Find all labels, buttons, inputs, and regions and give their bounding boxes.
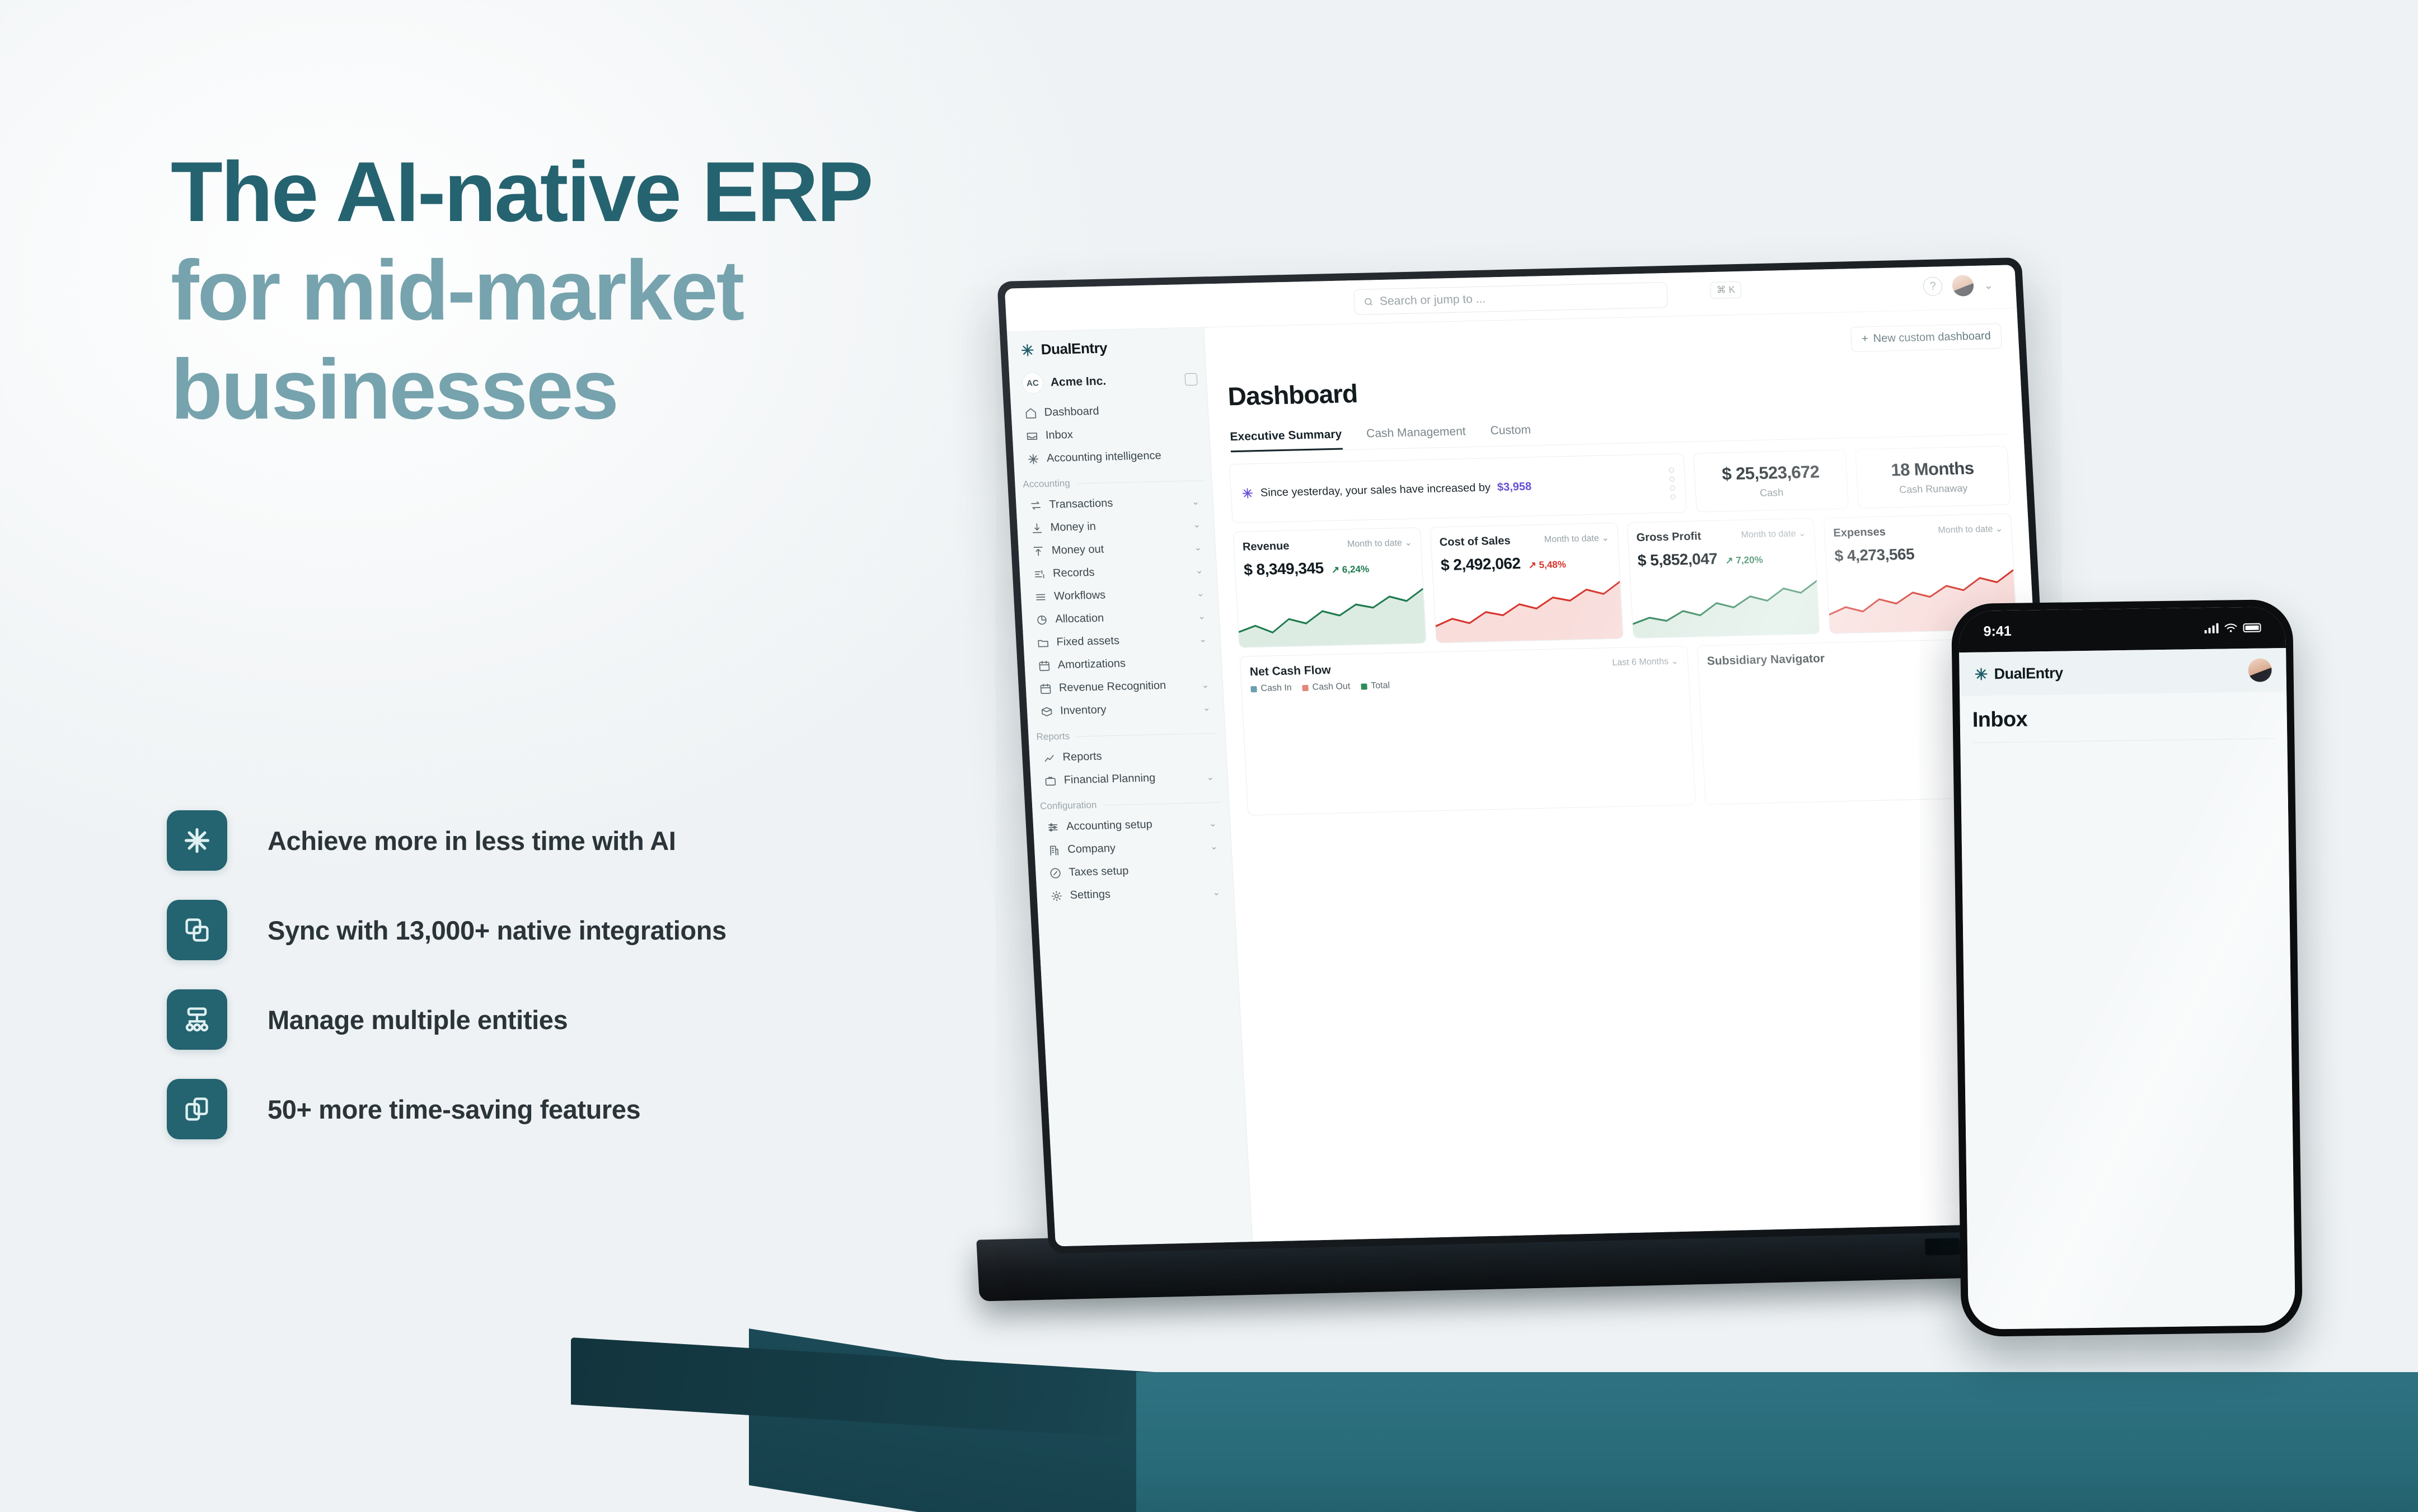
- legend-item-2: Total: [1361, 680, 1390, 691]
- box-icon: [1041, 705, 1053, 717]
- feature-list: Achieve more in less time with AI Sync w…: [167, 810, 922, 1168]
- inbox-title: Inbox: [1972, 704, 2275, 732]
- metric-sparkline: [1236, 575, 1426, 647]
- ai-message-amount: $3,958: [1497, 480, 1531, 494]
- box-icon: [1041, 705, 1053, 717]
- metric-value: $ 4,273,565: [1834, 545, 1915, 565]
- copy-layers-icon: [182, 1095, 212, 1124]
- metric-period-selector[interactable]: Month to date ⌄: [1938, 523, 2003, 536]
- search-placeholder: Search or jump to ...: [1379, 292, 1486, 308]
- upload-icon: [1032, 545, 1044, 557]
- home-icon: [1024, 407, 1037, 419]
- metric-value: $ 2,492,062: [1440, 555, 1521, 574]
- sparkle-icon: [1241, 487, 1254, 499]
- upload-icon: [1032, 545, 1044, 557]
- search-input[interactable]: Search or jump to ...: [1353, 281, 1669, 314]
- org-switcher[interactable]: AC Acme Inc.: [1009, 364, 1207, 402]
- phone-main: Inbox: [1960, 692, 2295, 1330]
- phone-body: 9:41: [1951, 599, 2303, 1337]
- kpi-value: $ 25,523,672: [1700, 462, 1841, 485]
- sidebar-item-label: Taxes setup: [1069, 863, 1219, 879]
- inbox-icon: [1025, 430, 1038, 442]
- feature-icon-tile: [167, 900, 227, 960]
- kpi-label: Cash Runaway: [1863, 482, 2004, 497]
- dualentry-logo-icon: [1020, 342, 1035, 358]
- records-icon: [1033, 567, 1046, 580]
- sidebar-item-label: Reports: [1062, 748, 1213, 764]
- folder-icon: [1037, 636, 1049, 649]
- kpi-card-cash: $ 25,523,672 Cash: [1693, 449, 1849, 512]
- percent-icon: [1049, 867, 1062, 879]
- ai-message-text: Since yesterday, your sales have increas…: [1260, 481, 1491, 500]
- building-icon: [1048, 844, 1061, 856]
- sidebar-item-label: Revenue Recognition: [1058, 679, 1194, 695]
- legend-swatch: [1361, 683, 1367, 689]
- metric-delta: ↗ 5,48%: [1528, 559, 1566, 571]
- sliders-icon: [1047, 821, 1060, 833]
- sidebar-item-label: Amortizations: [1057, 655, 1208, 672]
- chevron-down-icon[interactable]: ⌄: [1206, 771, 1214, 782]
- gear-icon: [1050, 890, 1063, 902]
- chart-line-icon: [1043, 752, 1056, 764]
- phone-screen: 9:41: [1958, 607, 2295, 1330]
- sliders-icon: [1047, 821, 1060, 833]
- org-name: Acme Inc.: [1050, 373, 1178, 389]
- metric-card-1: Cost of Sales Month to date ⌄ $ 2,492,06…: [1430, 523, 1623, 644]
- wifi-icon: [2224, 623, 2237, 633]
- allocation-icon: [1035, 613, 1048, 626]
- sidebar-item-label: Settings: [1070, 886, 1206, 902]
- sidebar-nav-reports: Reports Financial Planning ⌄: [1029, 742, 1227, 792]
- calendar-icon: [1038, 659, 1051, 672]
- legend-swatch: [1302, 684, 1309, 691]
- search-shortcut: ⌘ K: [1710, 281, 1742, 299]
- inbox-list: [1973, 748, 2275, 752]
- laptop-lid: Search or jump to ... ⌘ K ? ⌄ DualEntry: [997, 257, 2073, 1254]
- laptop-screen: Search or jump to ... ⌘ K ? ⌄ DualEntry: [1005, 265, 2065, 1246]
- sparkle-icon: [182, 826, 212, 855]
- feature-item-2: Manage multiple entities: [167, 989, 922, 1050]
- chevron-down-icon[interactable]: ⌄: [1196, 588, 1204, 599]
- transfer-icon: [1029, 499, 1042, 511]
- metric-period-selector[interactable]: Month to date ⌄: [1544, 532, 1609, 545]
- chevron-down-icon[interactable]: ⌄: [1199, 633, 1207, 645]
- metric-value: $ 5,852,047: [1637, 550, 1718, 570]
- search-icon: [1363, 297, 1374, 307]
- card-menu-icon[interactable]: [1669, 467, 1676, 499]
- feature-icon-tile: [167, 989, 227, 1050]
- sidebar-item-label: Workflows: [1054, 587, 1190, 603]
- percent-icon: [1049, 867, 1062, 879]
- chevron-down-icon[interactable]: ⌄: [1984, 278, 1994, 292]
- metric-period-selector[interactable]: Month to date ⌄: [1741, 528, 1806, 541]
- avatar[interactable]: [2248, 658, 2272, 682]
- calendar-icon: [1038, 659, 1051, 672]
- waterfall-plot: [1251, 687, 1686, 809]
- dualentry-logo-icon: [1974, 666, 1988, 681]
- laptop-mockup: Search or jump to ... ⌘ K ? ⌄ DualEntry: [974, 257, 2110, 1305]
- feature-label: Sync with 13,000+ native integrations: [268, 915, 727, 946]
- panel-toggle-icon[interactable]: [1184, 373, 1197, 386]
- sidebar-nav-accounting: Transactions ⌄ Money in ⌄ Money out ⌄ Re…: [1015, 490, 1224, 724]
- chevron-down-icon[interactable]: ⌄: [1198, 611, 1206, 622]
- chevron-down-icon[interactable]: ⌄: [1193, 519, 1201, 530]
- metric-title: Revenue: [1242, 540, 1290, 554]
- sidebar-item-label: Financial Planning: [1063, 771, 1199, 787]
- dashboard-title: Dashboard: [1227, 363, 2004, 412]
- phone-brand-name: DualEntry: [1994, 664, 2063, 683]
- sidebar-item-label: Accounting intelligence: [1047, 449, 1197, 465]
- gear-icon: [1050, 890, 1063, 902]
- sparkle-icon: [1027, 453, 1040, 465]
- summary-row: Since yesterday, your sales have increas…: [1229, 446, 2011, 524]
- feature-label: 50+ more time-saving features: [268, 1094, 640, 1125]
- tab-2[interactable]: Custom: [1490, 424, 1531, 447]
- signal-icon: [2204, 623, 2218, 633]
- sidebar-item-label: Fixed assets: [1056, 633, 1192, 649]
- kpi-value: 18 Months: [1862, 458, 2003, 481]
- chevron-down-icon[interactable]: ⌄: [1208, 818, 1216, 829]
- brand-name: DualEntry: [1041, 339, 1108, 358]
- plus-icon: +: [1861, 332, 1868, 345]
- calendar-icon: [1039, 682, 1052, 694]
- feature-item-3: 50+ more time-saving features: [167, 1079, 922, 1139]
- sparkle-icon: [1027, 453, 1040, 465]
- metric-sparkline: [1433, 570, 1623, 643]
- briefcase-icon: [1044, 774, 1057, 787]
- sidebar-nav-configuration: Accounting setup ⌄ Company ⌄ Taxes setup…: [1033, 811, 1234, 908]
- desk-pedestal: [571, 1337, 2418, 1512]
- metric-card-row: Revenue Month to date ⌄ $ 8,349,345 ↗ 6,…: [1233, 513, 2017, 647]
- phone-app-header: DualEntry: [1959, 648, 2286, 696]
- brand-logo: DualEntry: [1007, 327, 1206, 368]
- metric-title: Cost of Sales: [1439, 534, 1511, 549]
- inbox-tabs: [1972, 738, 2275, 743]
- briefcase-icon: [1044, 774, 1057, 787]
- chevron-down-icon[interactable]: ⌄: [1194, 542, 1202, 553]
- legend-swatch: [1250, 686, 1257, 692]
- chevron-down-icon[interactable]: ⌄: [1201, 679, 1209, 691]
- sidebar-item-label: Inbox: [1045, 426, 1196, 442]
- feature-icon-tile: [167, 810, 227, 871]
- records-icon: [1033, 567, 1046, 580]
- net-cash-flow-chart: Net Cash Flow Last 6 Months ⌄ Cash InCas…: [1239, 646, 1695, 815]
- dynamic-island: [2070, 617, 2175, 647]
- feature-label: Manage multiple entities: [268, 1004, 568, 1035]
- headline-line-1: The AI-native ERP: [171, 143, 1150, 241]
- feature-icon-tile: [167, 1079, 227, 1139]
- home-icon: [1024, 407, 1037, 419]
- metric-title: Gross Profit: [1636, 530, 1702, 544]
- new-custom-dashboard-button[interactable]: + New custom dashboard: [1850, 323, 2002, 352]
- chevron-down-icon[interactable]: ⌄: [1192, 496, 1199, 507]
- status-time: 9:41: [1983, 623, 2011, 640]
- overlapping-squares-icon: [182, 915, 212, 945]
- feature-item-1: Sync with 13,000+ native integrations: [167, 900, 922, 960]
- workflow-icon: [1034, 590, 1047, 603]
- allocation-icon: [1035, 613, 1048, 626]
- chart-title: Net Cash Flow: [1249, 664, 1331, 679]
- hierarchy-icon: [182, 1005, 212, 1034]
- phone-status-bar: 9:41: [1958, 607, 2286, 652]
- sidebar-item-label: Accounting setup: [1066, 817, 1202, 833]
- metric-sparkline: [1630, 566, 1820, 638]
- chevron-down-icon[interactable]: ⌄: [1202, 702, 1210, 713]
- sidebar-item-label: Money in: [1050, 518, 1186, 534]
- sidebar-item-label: Dashboard: [1044, 403, 1194, 419]
- metric-title: Expenses: [1833, 526, 1886, 540]
- building-icon: [1048, 844, 1061, 856]
- workflow-icon: [1034, 590, 1047, 603]
- phone-mockup: 9:41: [1951, 599, 2303, 1337]
- chevron-down-icon[interactable]: ⌄: [1212, 886, 1220, 898]
- metric-value: $ 8,349,345: [1243, 559, 1324, 579]
- new-dashboard-label: New custom dashboard: [1873, 330, 1991, 345]
- chevron-down-icon[interactable]: ⌄: [1195, 565, 1203, 576]
- metric-delta: ↗ 6,24%: [1331, 564, 1369, 576]
- tab-0[interactable]: Executive Summary: [1230, 428, 1343, 453]
- download-icon: [1030, 522, 1043, 534]
- sidebar-item-label: Inventory: [1060, 702, 1196, 718]
- download-icon: [1030, 522, 1043, 534]
- ai-insight-card: Since yesterday, your sales have increas…: [1229, 453, 1687, 523]
- sidebar-item-label: Transactions: [1049, 495, 1185, 511]
- feature-item-0: Achieve more in less time with AI: [167, 810, 922, 871]
- metric-period-selector[interactable]: Month to date ⌄: [1347, 537, 1413, 550]
- main-content: + New custom dashboard Dashboard Executi…: [1204, 308, 2065, 1242]
- transfer-icon: [1029, 499, 1042, 511]
- metric-card-2: Gross Profit Month to date ⌄ $ 5,852,047…: [1627, 518, 1820, 639]
- chart-period-selector[interactable]: Last 6 Months ⌄: [1612, 655, 1679, 668]
- folder-icon: [1037, 636, 1049, 649]
- sidebar-item-label: Company: [1067, 840, 1203, 856]
- sidebar-item-cfg-3[interactable]: Settings ⌄: [1043, 880, 1227, 908]
- chevron-down-icon[interactable]: ⌄: [1210, 840, 1217, 852]
- sidebar-item-label: Allocation: [1055, 610, 1191, 626]
- pedestal-face: [1136, 1372, 2418, 1512]
- inbox-icon: [1025, 430, 1038, 442]
- legend-item-0: Cash In: [1250, 683, 1292, 694]
- legend-item-1: Cash Out: [1302, 682, 1351, 693]
- sidebar-item-label: Records: [1052, 564, 1188, 580]
- battery-icon: [2243, 623, 2261, 632]
- feature-label: Achieve more in less time with AI: [268, 825, 676, 856]
- avatar[interactable]: [1952, 275, 1974, 297]
- question-circle-icon[interactable]: ?: [1923, 276, 1943, 296]
- sidebar-nav-primary: Dashboard Inbox Accounting intelligence: [1011, 397, 1211, 471]
- org-avatar: AC: [1021, 372, 1044, 394]
- chart-line-icon: [1043, 752, 1056, 764]
- kpi-label: Cash: [1702, 485, 1842, 500]
- dashboard-tabs: Executive SummaryCash ManagementCustom: [1230, 412, 2007, 453]
- kpi-card-runway: 18 Months Cash Runaway: [1855, 446, 2011, 509]
- metric-card-0: Revenue Month to date ⌄ $ 8,349,345 ↗ 6,…: [1233, 527, 1427, 648]
- tab-1[interactable]: Cash Management: [1366, 425, 1467, 449]
- sidebar-item-label: Money out: [1051, 541, 1187, 557]
- metric-delta: ↗ 7,20%: [1725, 555, 1763, 567]
- calendar-icon: [1039, 682, 1052, 694]
